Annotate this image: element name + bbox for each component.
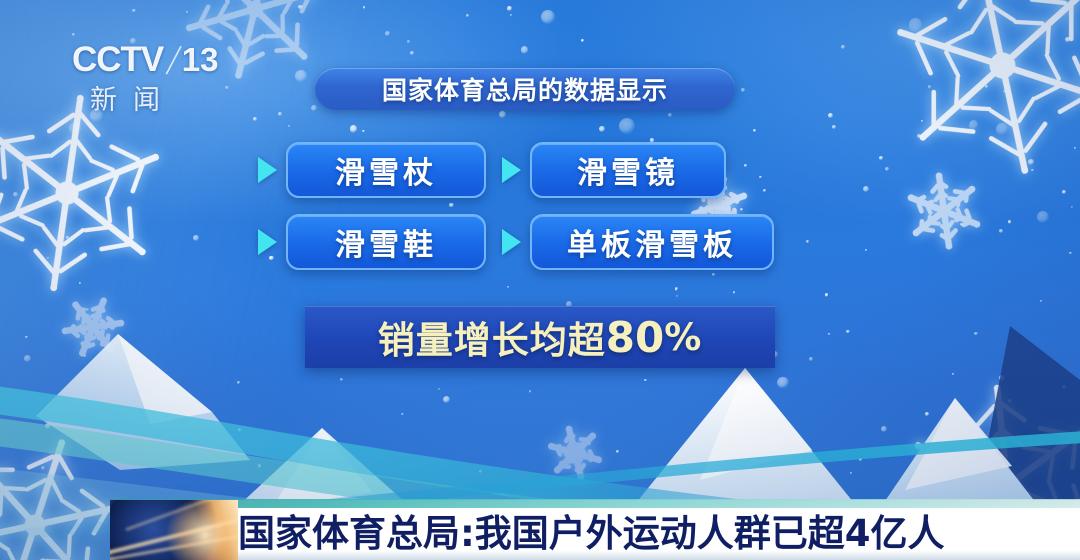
channel-sublabel: 新闻 [90, 78, 176, 117]
item-label: 单板滑雪板 [567, 220, 737, 264]
network-name: CCTV [72, 40, 163, 80]
item-chip-ski-poles: 滑雪杖 [286, 142, 486, 198]
item-label: 滑雪镜 [577, 148, 679, 192]
news-ticker: 国家体育总局:我国户外运动人群已超4亿人 [0, 500, 1080, 560]
broadcast-stage: CCTV / 13 新闻 国家体育总局的数据显示 滑雪杖 滑雪镜 滑雪鞋 [0, 0, 1080, 560]
ticker-headline: 国家体育总局:我国户外运动人群已超4亿人 [238, 500, 945, 560]
item-chip-ski-goggles: 滑雪镜 [530, 142, 726, 198]
item-label: 滑雪鞋 [335, 220, 437, 264]
triangle-right-icon [502, 157, 521, 183]
item-rows: 滑雪杖 滑雪镜 滑雪鞋 单板滑雪板 [0, 142, 1080, 286]
triangle-right-icon [502, 229, 521, 255]
item-row: 滑雪鞋 单板滑雪板 [0, 214, 1080, 270]
globe-icon [110, 500, 238, 560]
item-chip-ski-boots: 滑雪鞋 [286, 214, 486, 270]
triangle-right-icon [258, 229, 277, 255]
item-chip-snowboard: 单板滑雪板 [530, 214, 774, 270]
banner-value: 80 [606, 313, 664, 362]
page-title: 国家体育总局的数据显示 [382, 71, 668, 107]
item-row: 滑雪杖 滑雪镜 [0, 142, 1080, 198]
triangle-right-icon [258, 157, 277, 183]
logo-row: CCTV / 13 [72, 38, 222, 82]
highlight-banner: 销量增长均超80% [305, 306, 775, 368]
banner-prefix: 销量增长均超 [378, 310, 606, 364]
cctv13-logo: CCTV / 13 新闻 [72, 38, 222, 116]
headline-pill: 国家体育总局的数据显示 [315, 68, 735, 110]
channel-number: 13 [182, 41, 219, 79]
item-label: 滑雪杖 [335, 148, 437, 192]
banner-unit: % [664, 316, 702, 359]
